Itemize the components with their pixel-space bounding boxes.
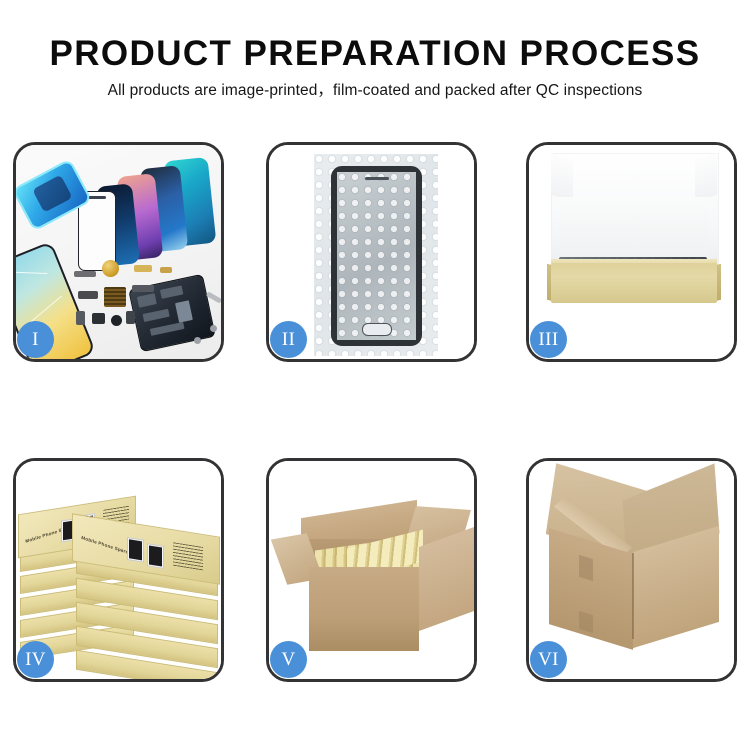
screw-part-icon [210, 325, 217, 332]
page-header: PRODUCT PREPARATION PROCESS All products… [0, 0, 750, 101]
process-step-panel-4[interactable]: Mobile Phone Spare Parts Mobile Phone Sp… [13, 458, 224, 682]
step-badge-3: III [530, 321, 567, 358]
camera-lens-part-icon [111, 315, 122, 326]
step-badge-1: I [17, 321, 54, 358]
screw-part-2-icon [194, 337, 201, 344]
carton-front-face-icon [309, 567, 419, 651]
connector-part-icon [134, 265, 152, 272]
small-connector-part-icon [160, 267, 172, 273]
earpiece-icon [365, 177, 389, 180]
process-step-panel-1[interactable]: I [13, 142, 224, 362]
step-badge-4: IV [17, 641, 54, 678]
contact-grid-part-icon [104, 287, 126, 307]
sealed-carton-seam-bottom [579, 611, 593, 633]
phone-screen-icon [331, 166, 422, 346]
process-step-panel-5[interactable]: V [266, 458, 477, 682]
sim-tray-part-icon [76, 311, 85, 325]
step-badge-2: II [270, 321, 307, 358]
foam-flap-right-icon [695, 153, 717, 201]
step-badge-5: V [270, 641, 307, 678]
speaker-coil-part-icon [102, 260, 119, 277]
home-button-icon [362, 323, 392, 336]
process-step-panel-6[interactable]: VI [526, 458, 737, 682]
process-step-panel-2[interactable]: II [266, 142, 477, 362]
process-step-panel-3[interactable]: III [526, 142, 737, 362]
screen-surface [337, 172, 416, 340]
flex-cable-part-icon [74, 271, 96, 277]
step-badge-6: VI [530, 641, 567, 678]
antenna-part-icon [132, 285, 154, 292]
box-lid-front-phone-1-icon [127, 537, 144, 563]
page-title: PRODUCT PREPARATION PROCESS [0, 0, 750, 74]
page-subtitle: All products are image-printed，film-coat… [0, 74, 750, 101]
process-step-grid: I II [13, 142, 737, 683]
sealed-carton-front-edge [632, 553, 634, 639]
box-lid-front-phone-2-icon [147, 543, 164, 569]
button-part-icon [126, 311, 135, 324]
sealed-carton-seam-top [579, 555, 593, 581]
bubble-wrap-sheet-icon [314, 154, 438, 356]
kraft-box-body-icon [551, 263, 717, 303]
bracket-part-icon [92, 313, 105, 324]
foam-flap-left-icon [551, 153, 573, 201]
ribbon-part-icon [78, 291, 98, 299]
box-lid-front-spec-lines [173, 542, 203, 571]
